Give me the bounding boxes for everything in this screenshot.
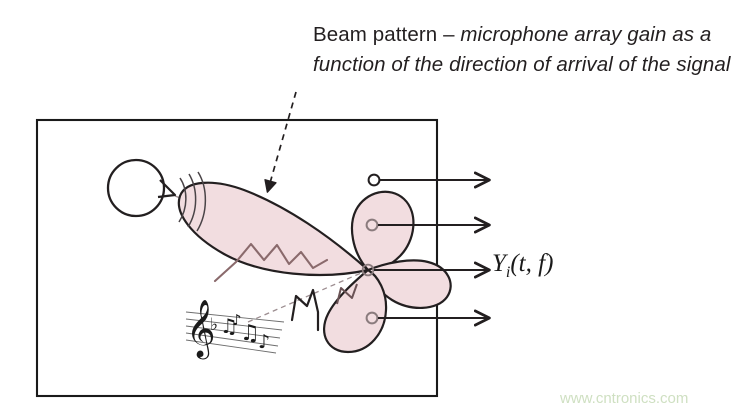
beamforming-diagram: 𝄞 ♭ ♫ ♫ ♪ ♪ [0, 0, 740, 419]
side-lobe-upper [352, 192, 413, 271]
head-icon [108, 160, 164, 216]
microphone-icon [369, 175, 380, 186]
side-lobe-lower [324, 270, 386, 352]
flat-symbol-icon: ♭ [210, 315, 218, 335]
eighth-note-icon: ♪ [232, 311, 242, 329]
site-watermark: www.cntronics.com [560, 390, 688, 407]
microphone-channel-1 [369, 175, 488, 186]
output-symbol: Y [492, 250, 506, 277]
output-signal-label: Yi(t, f) [492, 250, 553, 282]
beamed-notes-icon: ♫ [240, 321, 260, 346]
quarter-note-icon: ♪ [258, 331, 270, 353]
main-lobe [179, 183, 368, 275]
caption-pointer-arrow [268, 92, 296, 190]
music-signal-zigzag [292, 290, 318, 330]
music-notes-source: 𝄞 ♭ ♫ ♫ ♪ ♪ [186, 299, 284, 360]
output-arguments: (t, f) [510, 250, 553, 277]
figure-canvas: Beam pattern – microphone array gain as … [0, 0, 740, 419]
